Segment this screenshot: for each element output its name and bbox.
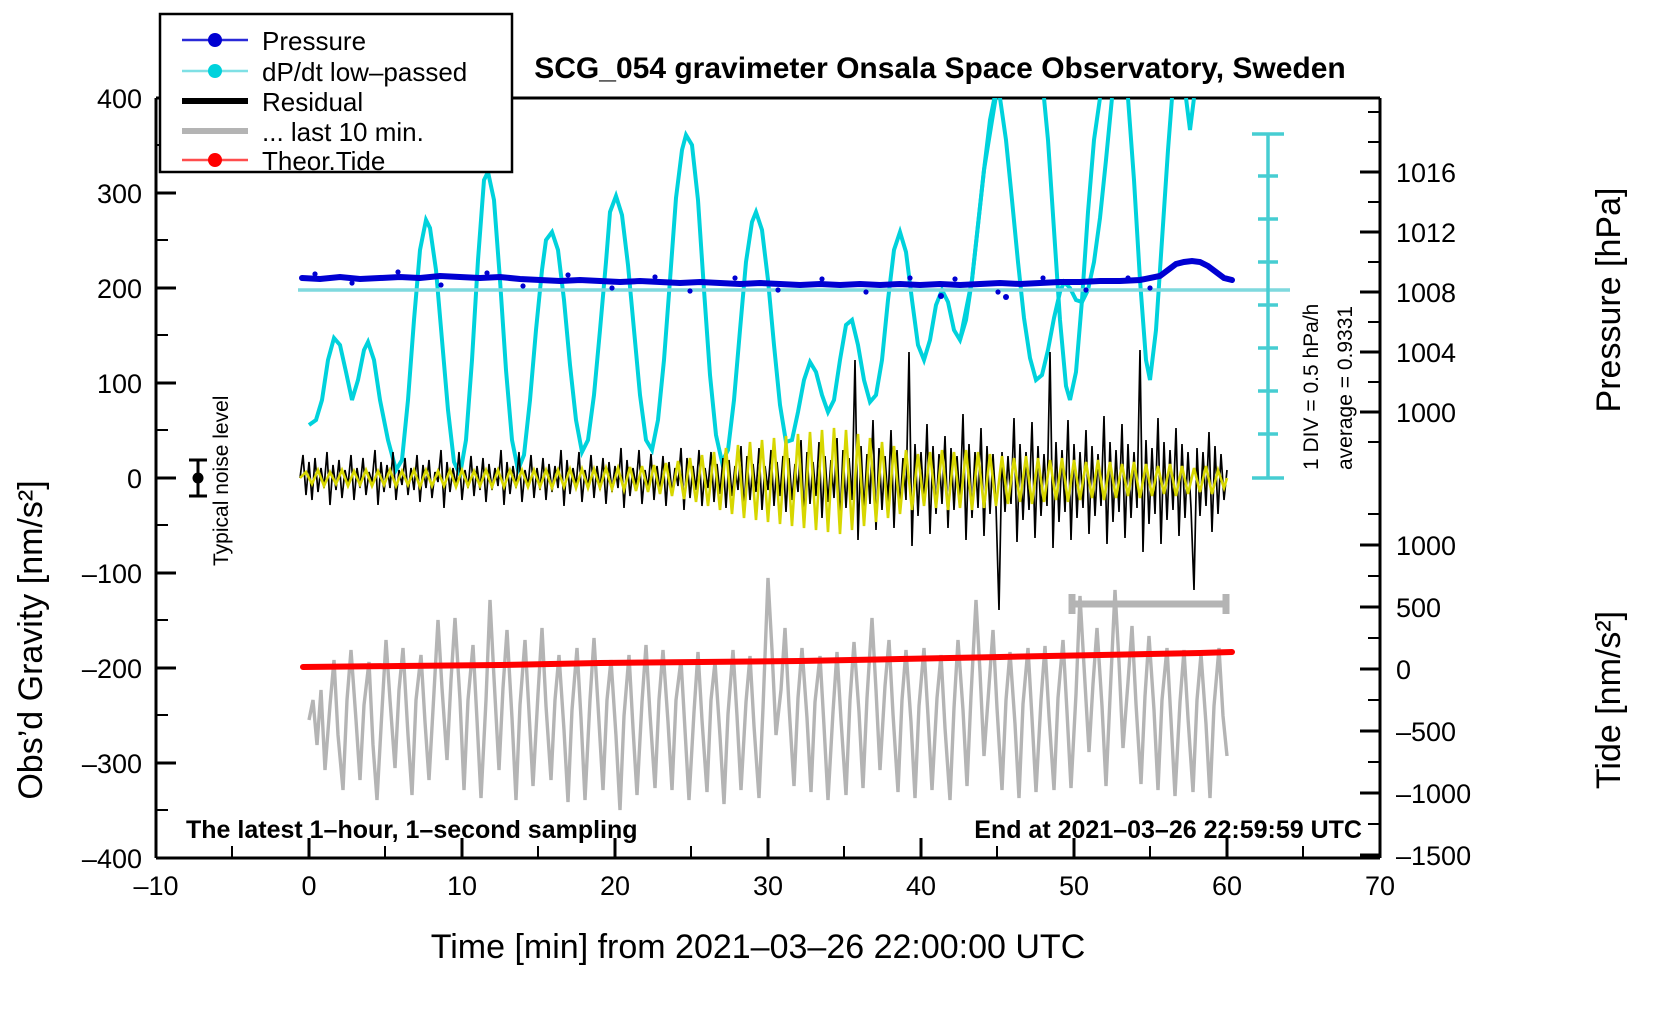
xtick-label: –10 — [133, 871, 178, 901]
tide-tick-label: –1000 — [1396, 779, 1471, 809]
y-axis-left-title: Obs’d Gravity [nm/s²] — [12, 480, 50, 799]
ytick-label: –300 — [82, 749, 142, 779]
gravimeter-plot-svg: 400 300 200 100 0 –100 –200 –300 –400 –1… — [0, 0, 1660, 1020]
ytick-label: 0 — [127, 464, 142, 494]
ytick-label: 300 — [97, 179, 142, 209]
legend: Pressure dP/dt low–passed Residual ... l… — [160, 14, 512, 176]
average-label: average = 0.9331 — [1334, 306, 1357, 470]
y-axis-tide-title: Tide [nm/s²] — [1590, 611, 1628, 789]
typical-noise-level-dot — [193, 473, 204, 484]
pressure-tick-label: 1000 — [1396, 398, 1456, 428]
legend-marker-pressure — [208, 33, 222, 47]
typical-noise-level-label: Typical noise level — [210, 396, 233, 566]
xtick-label: 0 — [301, 871, 316, 901]
y-axis-pressure-title: Pressure [hPa] — [1590, 188, 1628, 413]
div-scale-label: 1 DIV = 0.5 hPa/h — [1300, 304, 1323, 470]
end-time-note: End at 2021–03–26 22:59:59 UTC — [974, 816, 1362, 844]
xtick-label: 50 — [1059, 871, 1089, 901]
xtick-label: 40 — [906, 871, 936, 901]
pressure-tick-label: 1016 — [1396, 158, 1456, 188]
page-title: SCG_054 gravimeter Onsala Space Observat… — [534, 52, 1346, 85]
legend-label: dP/dt low–passed — [262, 57, 467, 87]
xtick-label: 60 — [1212, 871, 1242, 901]
tide-tick-label: –500 — [1396, 717, 1456, 747]
ytick-label: 400 — [97, 84, 142, 114]
ytick-label: –100 — [82, 559, 142, 589]
xtick-label: 20 — [600, 871, 630, 901]
ytick-label: –400 — [82, 844, 142, 874]
xtick-label: 70 — [1365, 871, 1395, 901]
xtick-label: 10 — [447, 871, 477, 901]
sampling-note: The latest 1–hour, 1–second sampling — [186, 816, 638, 844]
pressure-tick-label: 1008 — [1396, 278, 1456, 308]
legend-label: Theor.Tide — [262, 146, 385, 176]
legend-marker-theor-tide — [208, 153, 222, 167]
chart-canvas: 400 300 200 100 0 –100 –200 –300 –400 –1… — [0, 0, 1660, 1020]
xtick-label: 30 — [753, 871, 783, 901]
pressure-tick-label: 1004 — [1396, 338, 1456, 368]
legend-label: ... last 10 min. — [262, 117, 424, 147]
pressure-tick-label: 1012 — [1396, 218, 1456, 248]
x-axis-title: Time [min] from 2021–03–26 22:00:00 UTC — [431, 928, 1086, 966]
ytick-label: –200 — [82, 654, 142, 684]
ytick-label: 200 — [97, 274, 142, 304]
tide-tick-label: 500 — [1396, 593, 1441, 623]
ytick-label: 100 — [97, 369, 142, 399]
tide-tick-label: 1000 — [1396, 531, 1456, 561]
legend-label: Pressure — [262, 26, 366, 56]
legend-marker-dpdt — [208, 64, 222, 78]
legend-label: Residual — [262, 87, 363, 117]
tide-tick-label: 0 — [1396, 655, 1411, 685]
tide-tick-label: –1500 — [1396, 841, 1471, 871]
